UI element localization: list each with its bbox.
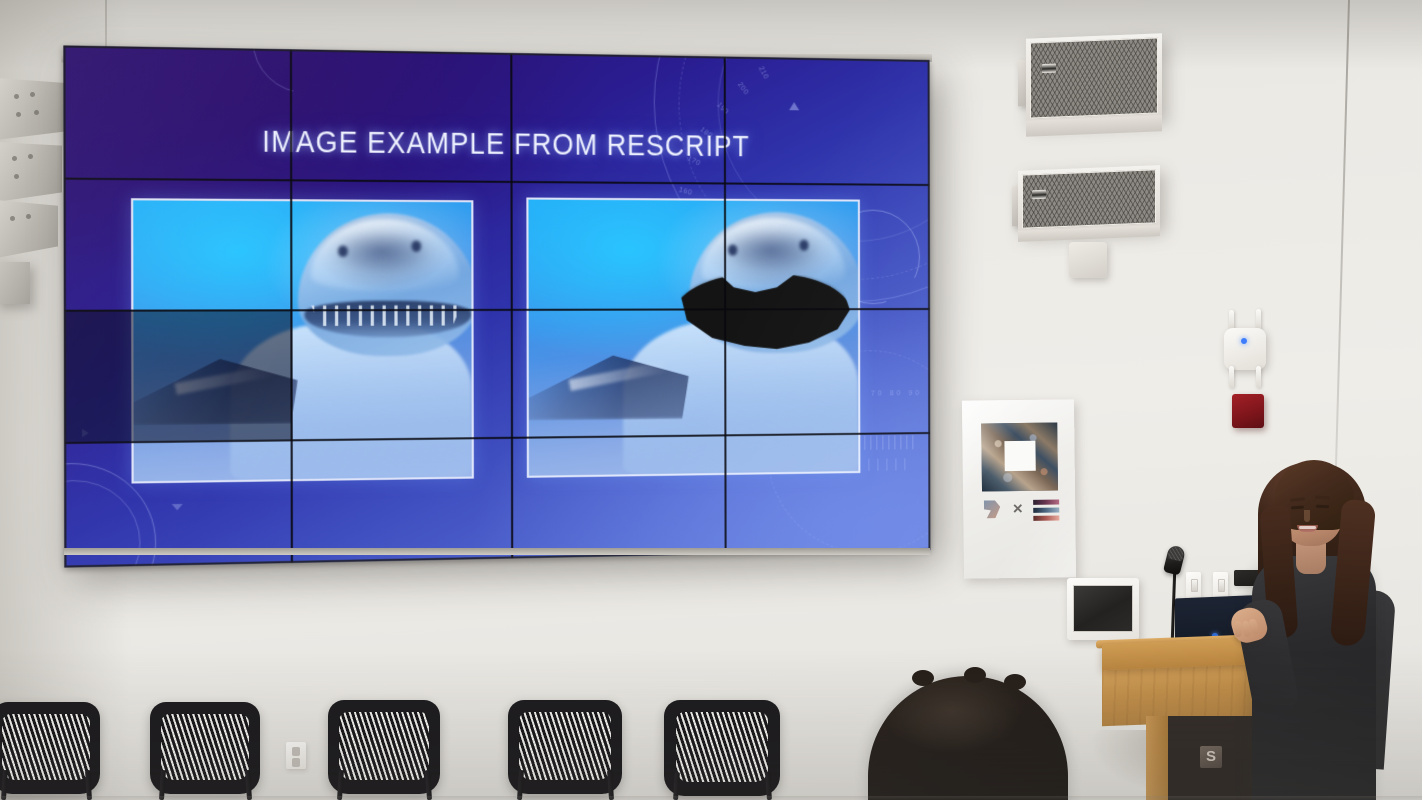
hud-marker-west-icon [82,429,94,438]
video-wall[interactable]: 210 200 190 180 170 160 70 80 90 IMAGE E… [63,45,930,567]
hud-tick-210: 210 [757,65,770,80]
hud-tick-160: 160 [678,187,693,198]
speaker-grille-icon [1022,169,1156,228]
shark-photo [133,200,472,481]
presentation-slide: 210 200 190 180 170 160 70 80 90 IMAGE E… [63,45,930,567]
poster-plastic-sheen [962,399,1076,578]
presenter-eye-right [1316,505,1329,509]
speaker-lower [1018,165,1160,233]
video-wall-bottom-trim [64,548,930,555]
wall-bracket-1-icon [0,78,66,140]
hud-tick-80: 80 [890,390,904,397]
light-switch-plate-2[interactable] [1213,572,1228,598]
hud-tick-labels-bottom: 70 80 90 [871,390,922,397]
wall-bracket-4-icon [0,262,30,304]
hud-marker-southwest-icon [172,504,183,511]
hud-tick-90: 90 [908,390,922,397]
shark-photo-redacted [528,200,858,476]
wifi-access-point [1224,328,1266,370]
hud-tick-190: 190 [715,101,730,116]
shark-eye-left [728,244,737,255]
fire-alarm-pull-station[interactable]: FIRE [1232,394,1264,428]
hud-tick-70: 70 [871,390,885,397]
speaker-upper [1026,33,1162,122]
shark-water-glow [134,361,472,481]
floor-shadow [0,650,1422,800]
av-control-panel-screen[interactable] [1073,585,1133,632]
light-switch-plate-1[interactable] [1186,572,1201,598]
presenter-nose [1304,510,1310,522]
wall-poster: × [962,399,1076,578]
wifi-antenna-3-icon [1229,366,1234,388]
microphone-mesh [1167,546,1185,562]
speaker-badge [1042,64,1056,74]
floor-line [0,796,1422,800]
slide-image-shark-redacted [526,197,860,477]
speaker-badge [1032,190,1046,200]
presenter-teeth [1299,526,1316,529]
slide-title: IMAGE EXAMPLE FROM RESCRIPT [128,123,873,166]
hud-ring-top-left-icon [252,45,359,94]
hud-marker-north-icon [789,102,799,110]
shark-water-glow [529,358,859,476]
speaker-grille-icon [1030,37,1158,118]
hud-tick-200: 200 [736,81,750,96]
wall-junction-box [1069,242,1107,278]
room-scene: 210 200 190 180 170 160 70 80 90 IMAGE E… [0,0,1422,800]
wifi-status-led-icon [1241,338,1247,344]
shark-eye-right [800,239,809,250]
wifi-antenna-4-icon [1256,366,1261,388]
shark-teeth [311,305,461,326]
slide-image-shark-original [131,198,474,483]
wall-bracket-2-icon [0,142,62,202]
